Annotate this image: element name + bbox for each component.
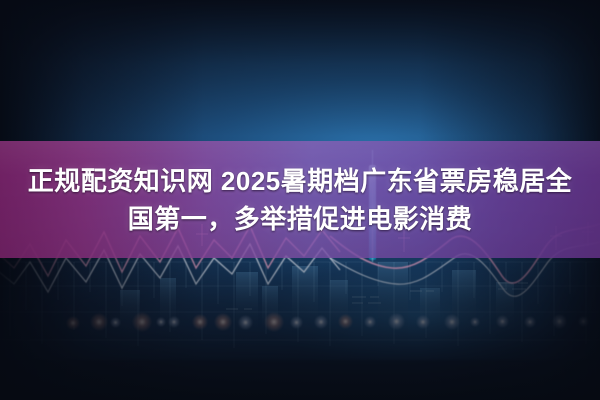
- banner-image: 正规配资知识网 2025暑期档广东省票房稳居全 国第一，多举措促进电影消费: [0, 0, 600, 400]
- headline-line-1: 正规配资知识网 2025暑期档广东省票房稳居全: [28, 163, 573, 199]
- headline-line-2: 国第一，多举措促进电影消费: [128, 201, 473, 237]
- headline-text-block: 正规配资知识网 2025暑期档广东省票房稳居全 国第一，多举措促进电影消费: [0, 141, 600, 258]
